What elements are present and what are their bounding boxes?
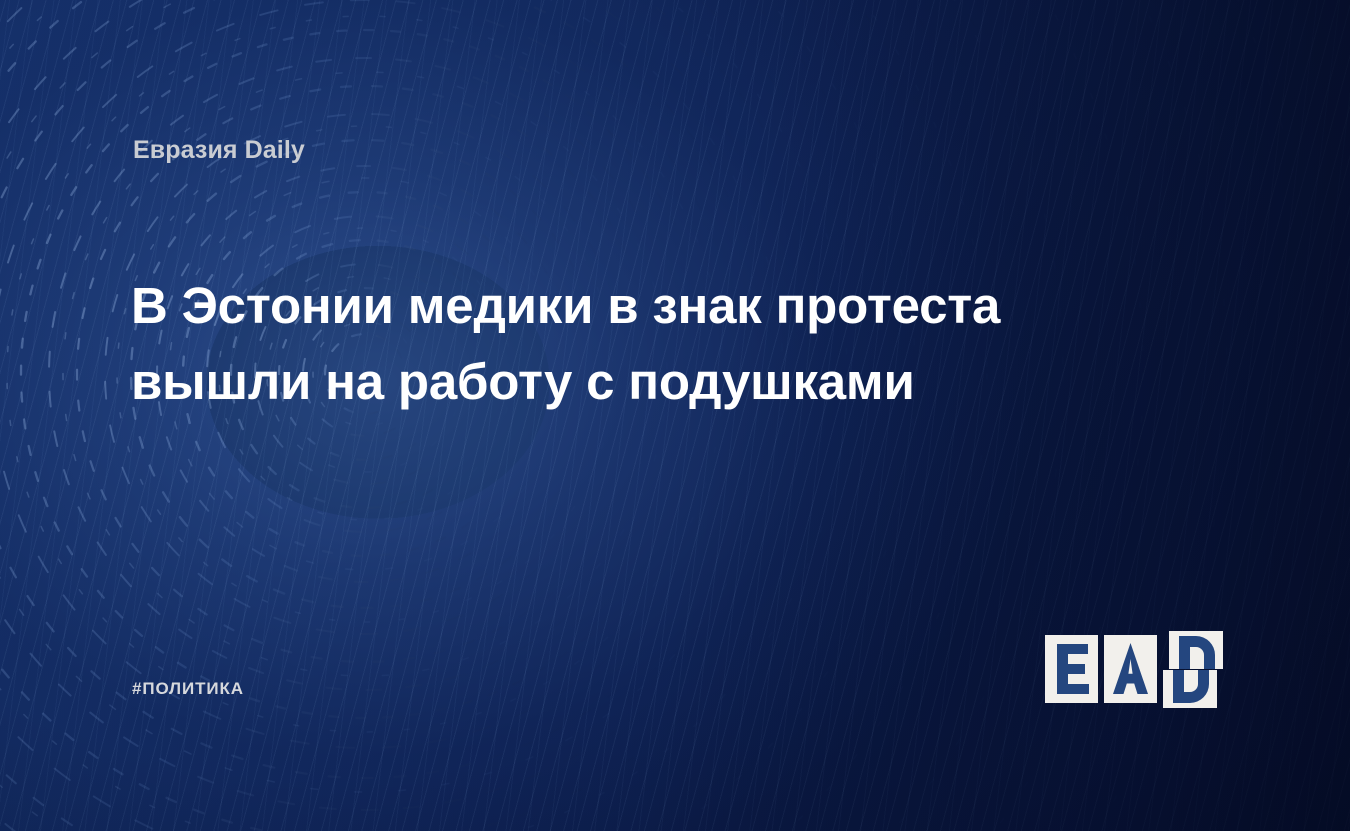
headline: В Эстонии медики в знак протеста вышли н… — [131, 268, 1091, 420]
headline-line-1: В Эстонии медики в знак протеста — [131, 268, 1091, 344]
logo-letter-e-icon — [1045, 635, 1098, 703]
category-tag[interactable]: #ПОЛИТИКА — [132, 679, 244, 699]
eadaily-logo — [1045, 631, 1225, 707]
headline-line-2: вышли на работу с подушками — [131, 344, 1091, 420]
logo-letter-d-top-icon — [1169, 631, 1223, 669]
logo-letter-d-bottom-icon — [1163, 670, 1217, 708]
brand-title: Евразия Daily — [133, 136, 305, 165]
news-card: Евразия Daily В Эстонии медики в знак пр… — [0, 0, 1350, 831]
logo-letter-a-icon — [1104, 635, 1157, 703]
